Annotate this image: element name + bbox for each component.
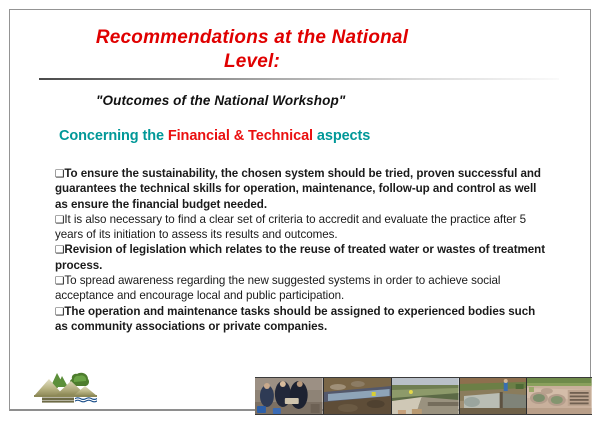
- list-item: ❑To ensure the sustainability, the chose…: [55, 166, 547, 212]
- list-item-text: It is also necessary to find a clear set…: [55, 213, 526, 241]
- bullet-square-icon: ❑: [55, 275, 64, 287]
- list-item: ❑To spread awareness regarding the new s…: [55, 273, 547, 304]
- list-item-text: To ensure the sustainability, the chosen…: [55, 167, 541, 211]
- presentation-slide: Recommendations at the National Level: "…: [0, 0, 600, 424]
- bullet-list: ❑To ensure the sustainability, the chose…: [55, 166, 547, 334]
- photo-canal-inspection: [460, 378, 528, 414]
- bullet-square-icon: ❑: [55, 168, 64, 180]
- list-item-text: Revision of legislation which relates to…: [55, 243, 545, 271]
- title-divider: [39, 78, 559, 80]
- page-title: Recommendations at the National Level:: [42, 26, 462, 75]
- list-item: ❑Revision of legislation which relates t…: [55, 242, 547, 273]
- slide-subtitle: "Outcomes of the National Workshop": [96, 93, 345, 108]
- list-item: ❑The operation and maintenance tasks sho…: [55, 304, 547, 335]
- section-heading-part2: Financial & Technical: [168, 128, 313, 144]
- list-item-text: To spread awareness regarding the new su…: [55, 274, 500, 302]
- bullet-square-icon: ❑: [55, 306, 64, 318]
- organization-logo: [33, 366, 99, 404]
- photo-field-workers: [255, 378, 324, 414]
- list-item: ❑It is also necessary to find a clear se…: [55, 212, 547, 243]
- section-heading-part3: aspects: [313, 128, 370, 144]
- list-item-text: The operation and maintenance tasks shou…: [55, 305, 535, 333]
- slide-title: Recommendations at the National Level:: [42, 26, 462, 75]
- section-heading: Concerning the Financial & Technical asp…: [59, 128, 370, 144]
- bullet-square-icon: ❑: [55, 214, 64, 226]
- photo-treatment-plant: [527, 378, 592, 414]
- bullet-square-icon: ❑: [55, 244, 64, 256]
- section-heading-part1: Concerning the: [59, 128, 168, 144]
- photo-strip: [255, 377, 592, 415]
- photo-polluted-stream: [324, 378, 393, 414]
- photo-drainage-channel: [392, 378, 460, 414]
